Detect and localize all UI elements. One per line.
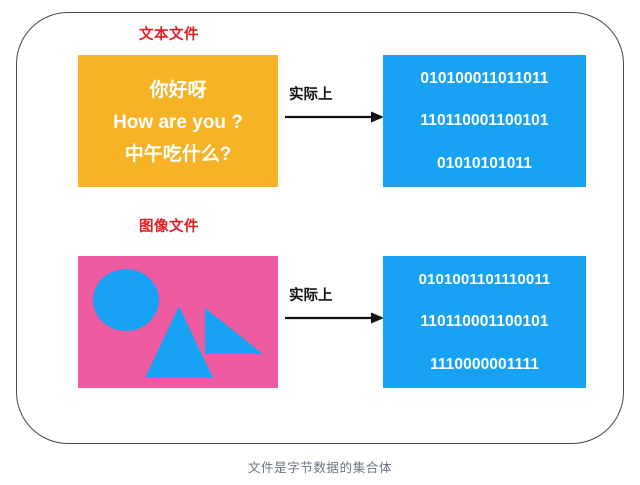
arrow-label-text: 实际上 (289, 83, 333, 104)
text-file-line-2: How are you ? (113, 113, 243, 132)
binary-image-line-3: 1110000001111 (430, 357, 539, 373)
circle-shape-icon (93, 269, 159, 331)
diagram-caption: 文件是字节数据的集合体 (0, 457, 640, 476)
binary-text-line-3: 01010101011 (437, 156, 532, 172)
image-file-sample-box (78, 256, 278, 388)
image-file-shapes (78, 256, 278, 388)
conversion-arrow-image: 实际上 (285, 284, 397, 340)
text-file-line-3: 中午吃什么? (125, 145, 232, 164)
arrow-right-icon (285, 109, 385, 125)
binary-box-image: 0101001101110011 110110001100101 1110000… (383, 256, 586, 388)
section-label-text-file: 文本文件 (139, 23, 199, 44)
section-label-image-file: 图像文件 (139, 215, 199, 236)
text-file-sample-box: 你好呀 How are you ? 中午吃什么? (78, 55, 278, 187)
conversion-arrow-text: 实际上 (285, 83, 397, 139)
binary-box-text: 010100011011011 110110001100101 01010101… (383, 55, 586, 187)
binary-text-line-1: 010100011011011 (420, 71, 548, 87)
binary-image-line-1: 0101001101110011 (419, 272, 551, 287)
triangle-right-shape-icon (205, 308, 263, 354)
text-file-line-1: 你好呀 (149, 81, 206, 100)
arrow-right-icon (285, 310, 385, 326)
triangle-isosceles-shape-icon (145, 306, 213, 378)
binary-text-line-2: 110110001100101 (420, 113, 548, 129)
binary-image-line-2: 110110001100101 (420, 314, 548, 330)
arrow-label-image: 实际上 (289, 284, 333, 305)
